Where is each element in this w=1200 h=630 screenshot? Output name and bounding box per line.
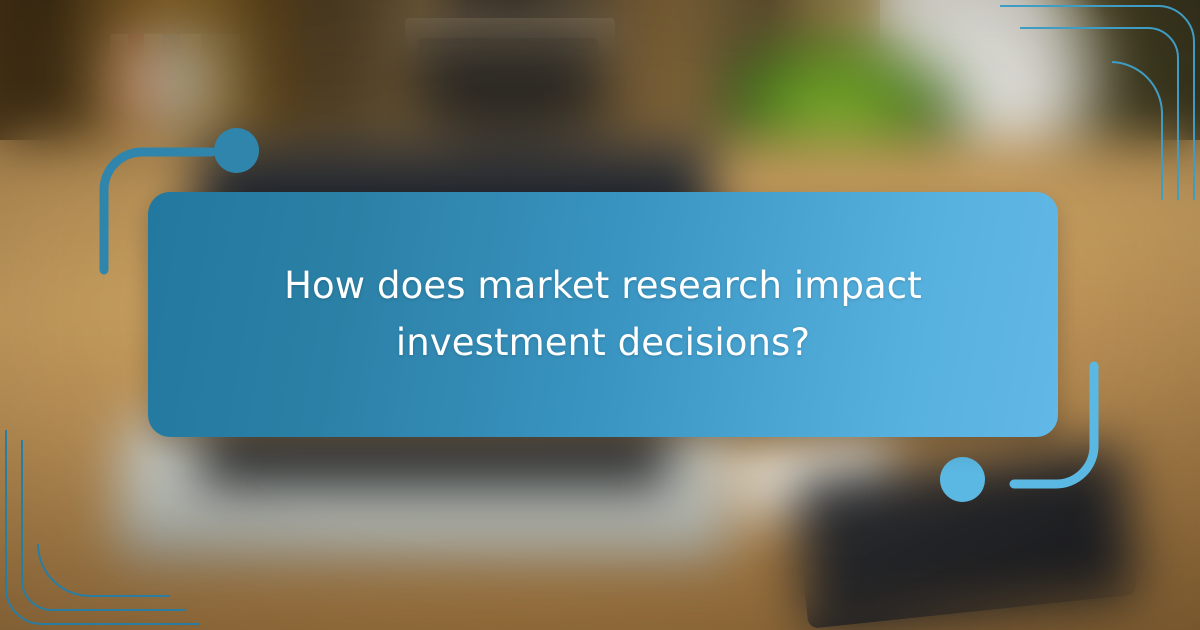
question-text: How does market research impact investme… <box>208 258 998 370</box>
accent-dot-top <box>214 128 259 173</box>
top-right-corner-lines <box>1000 0 1200 200</box>
bottom-left-corner-lines <box>0 430 200 630</box>
question-card: How does market research impact investme… <box>148 192 1058 437</box>
accent-dot-bottom <box>940 457 985 502</box>
social-card-canvas: How does market research impact investme… <box>0 0 1200 630</box>
